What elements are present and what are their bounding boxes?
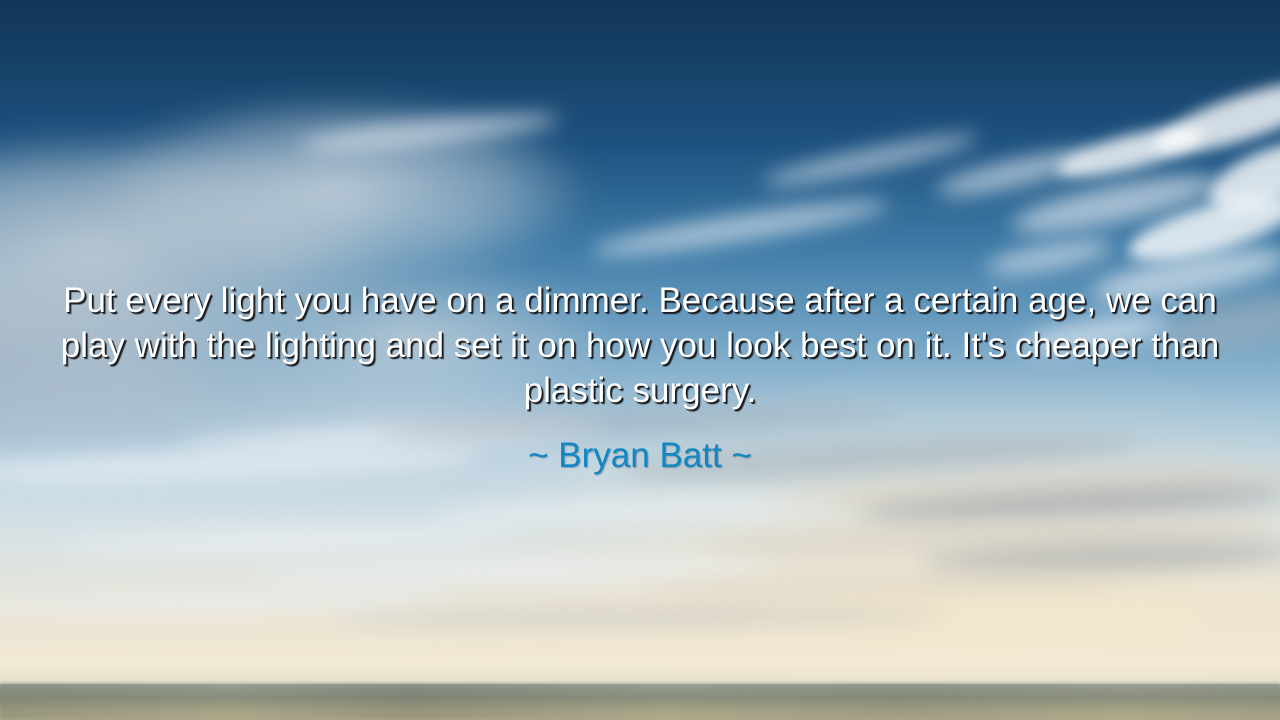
quote-author: ~ Bryan Batt ~ bbox=[40, 413, 1240, 477]
horizon-haze bbox=[0, 600, 1280, 690]
quote-wallpaper: Put every light you have on a dimmer. Be… bbox=[0, 0, 1280, 720]
quote-block: Put every light you have on a dimmer. Be… bbox=[0, 278, 1280, 477]
landscape-texture bbox=[0, 684, 1280, 720]
quote-text: Put every light you have on a dimmer. Be… bbox=[40, 278, 1240, 413]
